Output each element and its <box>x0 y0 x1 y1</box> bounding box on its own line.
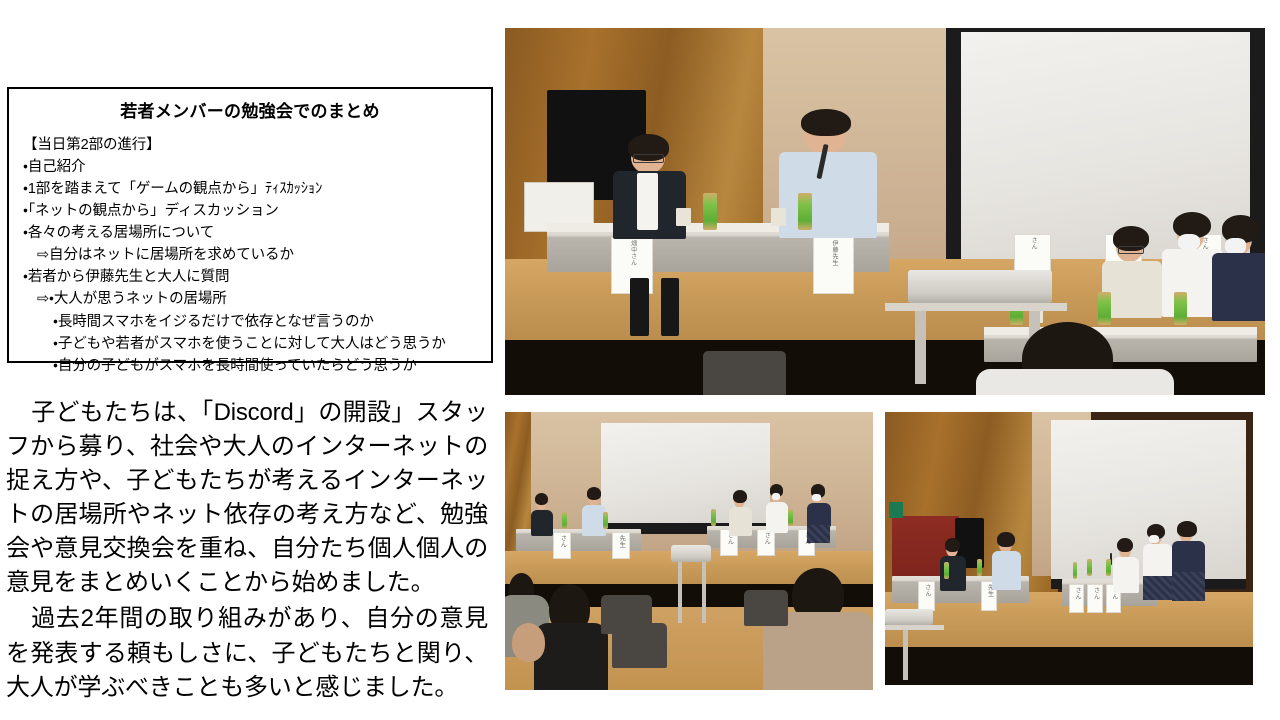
audience-chair <box>612 623 667 667</box>
nameplate: さん <box>918 581 935 610</box>
agenda-item: ・自己紹介 <box>23 156 481 178</box>
photo-left-scene: さん 先生 さん さん さん <box>505 412 873 690</box>
photo-right-scene: さん 先生 さん さん さん <box>885 412 1253 685</box>
agenda-item: ・1部を踏まえて「ゲームの観点から」ﾃｨｽｶｯｼｮﾝ <box>23 178 481 200</box>
tea-bottle <box>1174 292 1187 325</box>
agenda-box: 若者メンバーの勉強会でのまとめ 【当日第2部の進行】 ・自己紹介 ・1部を踏まえ… <box>7 87 493 363</box>
nameplate: さん <box>1087 584 1102 613</box>
tea-bottle <box>1106 559 1111 575</box>
nameplate-text: さん <box>1092 587 1099 600</box>
nameplate: 先生 <box>612 532 630 559</box>
photo-panel-closeup: 畑中さん 伊藤先生 さん さん さん <box>505 28 1265 395</box>
agenda-list: 【当日第2部の進行】 ・自己紹介 ・1部を踏まえて「ゲームの観点から」ﾃｨｽｶｯ… <box>19 134 481 376</box>
panelist <box>766 484 788 534</box>
agenda-item: ・長時間スマホをイジるだけで依存となぜ言うのか <box>23 311 481 333</box>
paper-cup <box>771 208 786 226</box>
agenda-item: ⇨・大人が思うネットの居場所 <box>23 288 481 310</box>
panelist <box>992 532 1021 592</box>
tea-bottle <box>944 562 949 578</box>
face-mask-icon <box>1225 238 1246 253</box>
agenda-item: ⇨自分はネットに居場所を求めているか <box>23 244 481 266</box>
panelist <box>1113 538 1139 604</box>
projector <box>908 270 1052 303</box>
nameplate: さん <box>1069 584 1084 613</box>
body-copy: 子どもたちは、「Discord」の開設」スタッフから募り、社会や大人のインターネ… <box>6 396 488 707</box>
tea-bottle <box>1098 292 1111 325</box>
audience-member <box>534 623 608 690</box>
agenda-item: ・若者から伊藤先生と大人に質問 <box>23 266 481 288</box>
tea-bottle <box>798 193 812 230</box>
audience-chair <box>744 590 788 626</box>
body-paragraph: 子どもたちは、「Discord」の開設」スタッフから募り、社会や大人のインターネ… <box>6 396 488 600</box>
tea-bottle <box>562 512 567 529</box>
photo-room-wide: さん 先生 さん さん さん <box>505 412 873 690</box>
nameplate-text: 先生 <box>617 535 624 548</box>
body-paragraph: 過去2年間の取り組みがあり、自分の意見を発表する頼もしさに、子どもたちと関り、大… <box>6 602 488 704</box>
tea-bottle <box>703 193 717 230</box>
nameplate: 伊藤先生 <box>813 237 855 294</box>
agenda-item: ・子どもや若者がスマホを使うことに対して大人はどう思うか <box>23 333 481 355</box>
face-mask-icon <box>1149 535 1159 543</box>
tea-bottle <box>788 509 793 526</box>
panelist <box>729 490 751 537</box>
agenda-item: ・「ネットの観点から」ディスカッション <box>23 200 481 222</box>
face-mask-icon <box>772 493 780 500</box>
photo-main-scene: 畑中さん 伊藤先生 さん さん さん <box>505 28 1265 395</box>
tea-bottle <box>977 559 982 575</box>
panelist <box>611 134 687 244</box>
panelist <box>779 109 878 245</box>
nameplate-text: さん <box>923 584 930 597</box>
nameplate: さん <box>553 532 571 559</box>
nameplate-text: さん <box>1073 587 1080 600</box>
agenda-item: ・自分の子どもがスマホを長時間使っていたらどう思うか <box>23 355 481 377</box>
panelist <box>807 484 831 545</box>
panelist <box>531 493 553 537</box>
projector <box>671 545 711 562</box>
tea-bottle <box>1087 559 1092 575</box>
nameplate-text: さん <box>1029 237 1036 250</box>
agenda-title: 若者メンバーの勉強会でのまとめ <box>19 101 481 122</box>
projector <box>885 609 933 625</box>
audience-member <box>512 623 545 662</box>
audience-chair <box>703 351 787 395</box>
agenda-item: 【当日第2部の進行】 <box>23 134 481 156</box>
paper-cup <box>676 208 691 226</box>
tea-bottle <box>1073 562 1078 578</box>
panelist <box>1212 215 1265 325</box>
exit-sign-icon <box>889 502 904 518</box>
audience-member <box>976 369 1174 395</box>
photo-stage-angle: さん 先生 さん さん さん <box>885 412 1253 685</box>
panelist <box>1143 524 1172 600</box>
tea-bottle <box>603 512 608 529</box>
tea-bottle <box>711 509 716 526</box>
panelist <box>1172 521 1205 603</box>
agenda-item: ・各々の考える居場所について <box>23 222 481 244</box>
face-mask-icon <box>1178 234 1200 251</box>
nameplate-text: さん <box>558 535 565 548</box>
slide-canvas: 若者メンバーの勉強会でのまとめ 【当日第2部の進行】 ・自己紹介 ・1部を踏まえ… <box>0 0 1280 720</box>
face-mask-icon <box>812 494 820 501</box>
panelist <box>1102 226 1163 321</box>
